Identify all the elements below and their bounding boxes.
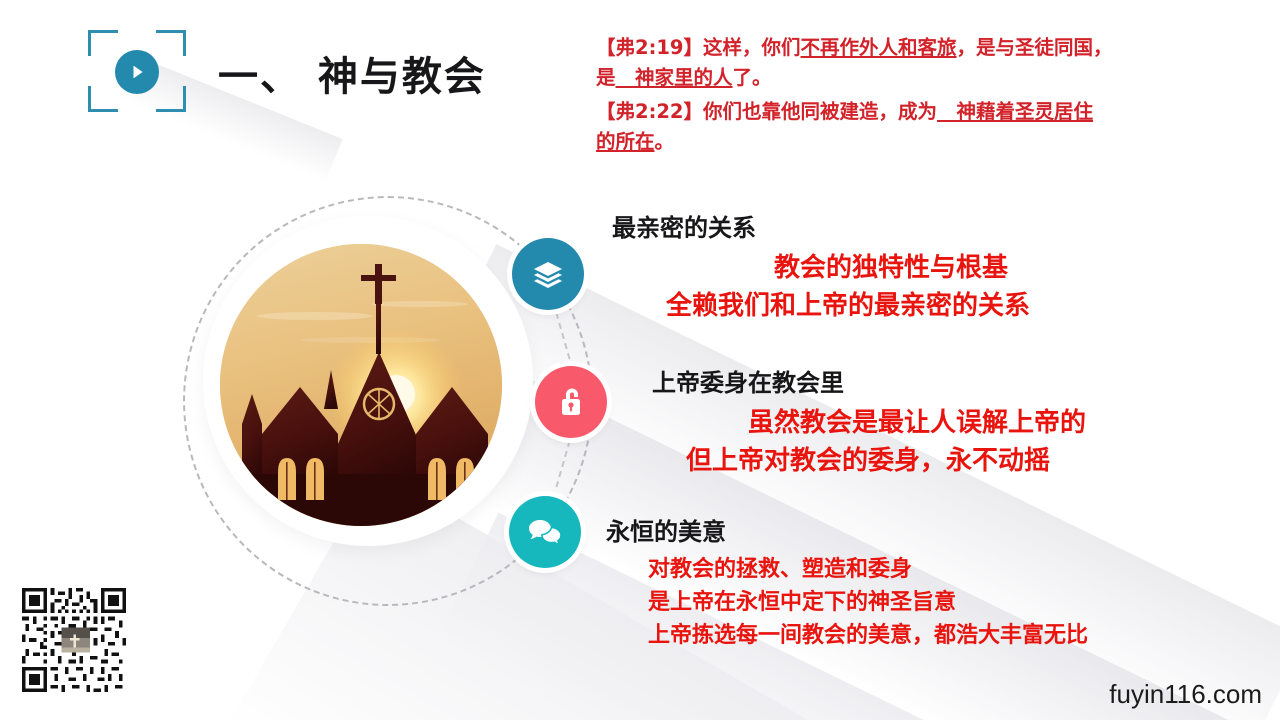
section-body: 虽然教会是最让人误解上帝的 但上帝对教会的委身，永不动摇	[686, 404, 1086, 480]
section-eternal-goodwill: 永恒的美意 对教会的拯救、塑造和委身 是上帝在永恒中定下的神圣旨意 上帝拣选每一…	[606, 512, 1088, 652]
section-line: 教会的独特性与根基	[774, 249, 1030, 287]
verse-text: 是	[596, 66, 616, 89]
title-block: 一、 神与教会	[0, 0, 560, 150]
verse-text: 你们也靠他同被建造，成为	[703, 100, 937, 123]
section-heading: 上帝委身在教会里	[652, 363, 1086, 398]
layers-icon[interactable]	[512, 238, 584, 310]
church-sunset-photo	[220, 244, 502, 526]
scripture-quote: 【弗2:19】这样，你们不再作外人和客旅，是与圣徒同国，是 神家里的人了。 【弗…	[596, 33, 1226, 161]
verse-underlined: 的所在	[596, 130, 655, 153]
section-line: 全赖我们和上帝的最亲密的关系	[666, 287, 1030, 325]
verse-ref: 【弗2:22】	[596, 100, 703, 123]
verse-text: 这样，你们	[703, 36, 801, 59]
slide-canvas: 一、 神与教会 【弗2:19】这样，你们不再作外人和客旅，是与圣徒同国，是 神家…	[0, 0, 1280, 720]
site-url: fuyin116.com	[1109, 679, 1262, 710]
scripture-verse-2: 【弗2:22】你们也靠他同被建造，成为 神藉着圣灵居住的所在。	[596, 97, 1226, 157]
verse-underlined: 不再作外人和客旅	[801, 36, 957, 59]
qr-code-icon[interactable]	[22, 588, 126, 692]
page-title: 一、 神与教会	[218, 44, 486, 102]
section-most-intimate-relationship: 最亲密的关系 教会的独特性与根基 全赖我们和上帝的最亲密的关系	[612, 208, 1030, 325]
section-line: 对教会的拯救、塑造和委身	[648, 553, 1088, 586]
verse-underlined: 神藉着圣灵居住	[937, 100, 1093, 123]
chat-bubbles-icon[interactable]	[509, 496, 581, 568]
verse-underlined: 神家里的人	[616, 66, 733, 89]
section-line: 虽然教会是最让人误解上帝的	[748, 404, 1086, 442]
section-god-commits-to-church: 上帝委身在教会里 虽然教会是最让人误解上帝的 但上帝对教会的委身，永不动摇	[652, 363, 1086, 480]
section-line: 是上帝在永恒中定下的神圣旨意	[648, 586, 1088, 619]
verse-text: 。	[655, 130, 675, 153]
section-heading: 最亲密的关系	[612, 208, 1030, 243]
section-line: 但上帝对教会的委身，永不动摇	[686, 442, 1086, 480]
play-icon[interactable]	[115, 50, 159, 94]
section-body: 教会的独特性与根基 全赖我们和上帝的最亲密的关系	[666, 249, 1030, 325]
section-body: 对教会的拯救、塑造和委身 是上帝在永恒中定下的神圣旨意 上帝拣选每一间教会的美意…	[648, 553, 1088, 652]
verse-text: 了。	[733, 66, 772, 89]
unlock-icon[interactable]	[535, 366, 607, 438]
verse-text: ，是与圣徒同国，	[957, 36, 1113, 59]
section-heading: 永恒的美意	[606, 512, 1088, 547]
scripture-verse-1: 【弗2:19】这样，你们不再作外人和客旅，是与圣徒同国，是 神家里的人了。	[596, 33, 1226, 93]
verse-ref: 【弗2:19】	[596, 36, 703, 59]
section-line: 上帝拣选每一间教会的美意，都浩大丰富无比	[648, 619, 1088, 652]
